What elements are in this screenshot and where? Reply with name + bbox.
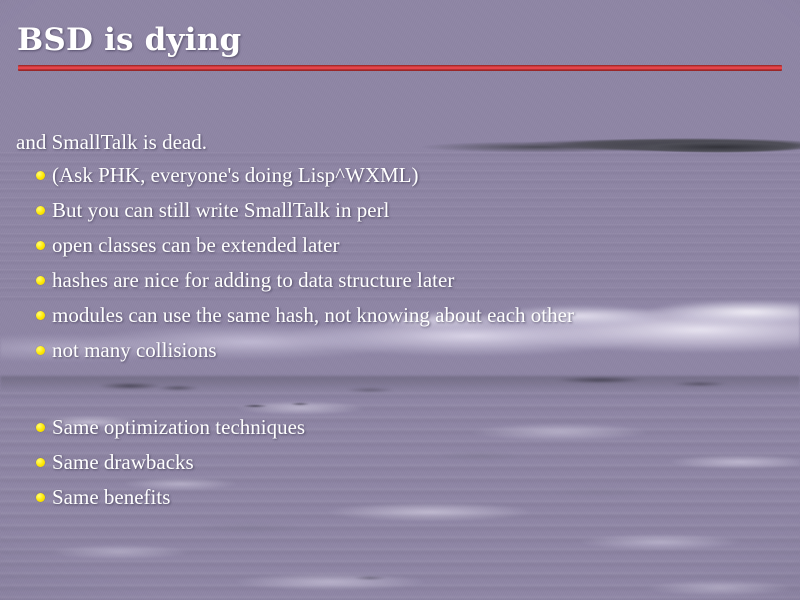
list-item-label: open classes can be extended later: [52, 233, 339, 257]
list-item-label: modules can use the same hash, not knowi…: [52, 303, 574, 327]
bullet-dot-icon: [36, 171, 45, 180]
list-item-label: Same optimization techniques: [52, 415, 305, 439]
bullet-dot-icon: [36, 276, 45, 285]
list-item-label: But you can still write SmallTalk in per…: [52, 198, 389, 222]
list-item: hashes are nice for adding to data struc…: [0, 267, 800, 293]
list-group-spacer: [0, 372, 800, 408]
list-item: (Ask PHK, everyone's doing Lisp^WXML): [0, 162, 800, 188]
list-item-label: Same benefits: [52, 485, 170, 509]
bullet-dot-icon: [36, 346, 45, 355]
slide-content: BSD is dying and SmallTalk is dead. (Ask…: [0, 0, 800, 600]
lead-line: and SmallTalk is dead.: [0, 128, 800, 156]
bullet-dot-icon: [36, 311, 45, 320]
bullet-dot-icon: [36, 458, 45, 467]
bullet-dot-icon: [36, 493, 45, 502]
list-item: Same optimization techniques: [0, 414, 800, 440]
list-item-label: not many collisions: [52, 338, 217, 362]
list-item: Same benefits: [0, 484, 800, 510]
slide-title: BSD is dying: [17, 22, 241, 58]
list-item-label: Same drawbacks: [52, 450, 194, 474]
list-item: modules can use the same hash, not knowi…: [0, 302, 772, 328]
slide-body: and SmallTalk is dead. (Ask PHK, everyon…: [0, 128, 800, 519]
bullet-list-primary: (Ask PHK, everyone's doing Lisp^WXML) Bu…: [0, 162, 800, 363]
bullet-dot-icon: [36, 241, 45, 250]
presentation-slide: BSD is dying and SmallTalk is dead. (Ask…: [0, 0, 800, 600]
list-item-label: hashes are nice for adding to data struc…: [52, 268, 454, 292]
bullet-list-secondary: Same optimization techniques Same drawba…: [0, 414, 800, 510]
bullet-dot-icon: [36, 423, 45, 432]
list-item-label: (Ask PHK, everyone's doing Lisp^WXML): [52, 163, 419, 187]
list-item: Same drawbacks: [0, 449, 800, 475]
title-underline-rule: [18, 65, 782, 71]
list-item: open classes can be extended later: [0, 232, 800, 258]
list-item: But you can still write SmallTalk in per…: [0, 197, 800, 223]
bullet-dot-icon: [36, 206, 45, 215]
list-item: not many collisions: [0, 337, 800, 363]
